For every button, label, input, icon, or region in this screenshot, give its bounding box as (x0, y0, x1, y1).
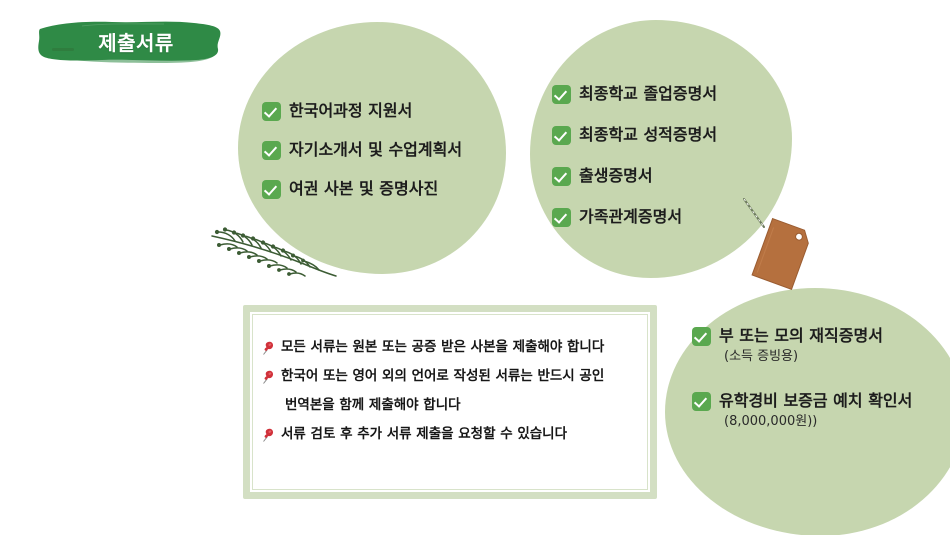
list-item[interactable]: 여권 사본 및 증명사진 (262, 178, 502, 199)
list-item-label: 출생증명서 (579, 165, 653, 186)
notes-panel: 모든 서류는 원본 또는 공증 받은 사본을 제출해야 합니다 한국어 또는 영… (243, 305, 657, 499)
list-item-label: 부 또는 모의 재직증명서 (719, 325, 883, 346)
checklist-group-1: 한국어과정 지원서 자기소개서 및 수업계획서 여권 사본 및 증명사진 (262, 100, 502, 217)
list-item: 한국어 또는 영어 외의 언어로 작성된 서류는 반드시 공인 (261, 366, 641, 386)
list-item[interactable]: 유학경비 보증금 예치 확인서 (692, 390, 942, 411)
list-item[interactable]: 자기소개서 및 수업계획서 (262, 139, 502, 160)
page-title-banner: 제출서류 (36, 18, 222, 64)
list-item[interactable]: 최종학교 졸업증명서 (552, 83, 782, 104)
list-item-note: (소득 증빙용) (724, 348, 942, 366)
list-item-label: 유학경비 보증금 예치 확인서 (719, 390, 912, 411)
check-icon (262, 141, 281, 160)
note-text-continuation: 번역본을 함께 제출해야 합니다 (285, 395, 641, 415)
list-item: 서류 검토 후 추가 서류 제출을 요청할 수 있습니다 (261, 424, 641, 444)
note-text: 모든 서류는 원본 또는 공증 받은 사본을 제출해야 합니다 (281, 337, 604, 357)
pushpin-icon (261, 339, 276, 356)
list-item[interactable]: 출생증명서 (552, 165, 782, 186)
list-item-label: 한국어과정 지원서 (289, 100, 412, 121)
fern-sprig-decoration (204, 218, 340, 290)
list-item-label: 최종학교 졸업증명서 (579, 83, 717, 104)
list-item-note: (8,000,000원)) (724, 413, 942, 431)
check-icon (552, 167, 571, 186)
check-icon (692, 392, 711, 411)
check-icon (262, 102, 281, 121)
note-text: 한국어 또는 영어 외의 언어로 작성된 서류는 반드시 공인 (281, 366, 604, 386)
check-icon (692, 327, 711, 346)
note-text: 서류 검토 후 추가 서류 제출을 요청할 수 있습니다 (281, 424, 567, 444)
notes-content: 모든 서류는 원본 또는 공증 받은 사본을 제출해야 합니다 한국어 또는 영… (261, 337, 641, 453)
list-item[interactable]: 최종학교 성적증명서 (552, 124, 782, 145)
pushpin-icon (261, 368, 276, 385)
list-item[interactable]: 한국어과정 지원서 (262, 100, 502, 121)
list-item-label: 여권 사본 및 증명사진 (289, 178, 438, 199)
slide-canvas: 제출서류 한국어과정 지원서 자기소개서 및 수업계획서 여권 사본 및 증명사… (0, 0, 950, 535)
page-title: 제출서류 (36, 18, 222, 64)
check-icon (262, 180, 281, 199)
check-icon (552, 208, 571, 227)
check-icon (552, 126, 571, 145)
list-item[interactable]: 부 또는 모의 재직증명서 (692, 325, 942, 346)
list-item-label: 자기소개서 및 수업계획서 (289, 139, 462, 160)
check-icon (552, 85, 571, 104)
list-item: 모든 서류는 원본 또는 공증 받은 사본을 제출해야 합니다 (261, 337, 641, 357)
checklist-group-3: 부 또는 모의 재직증명서 (소득 증빙용) 유학경비 보증금 예치 확인서 (… (692, 325, 942, 431)
list-item-label: 최종학교 성적증명서 (579, 124, 717, 145)
list-item-label: 가족관계증명서 (579, 206, 682, 227)
paper-tag-decoration (738, 196, 810, 292)
pushpin-icon (261, 426, 276, 443)
